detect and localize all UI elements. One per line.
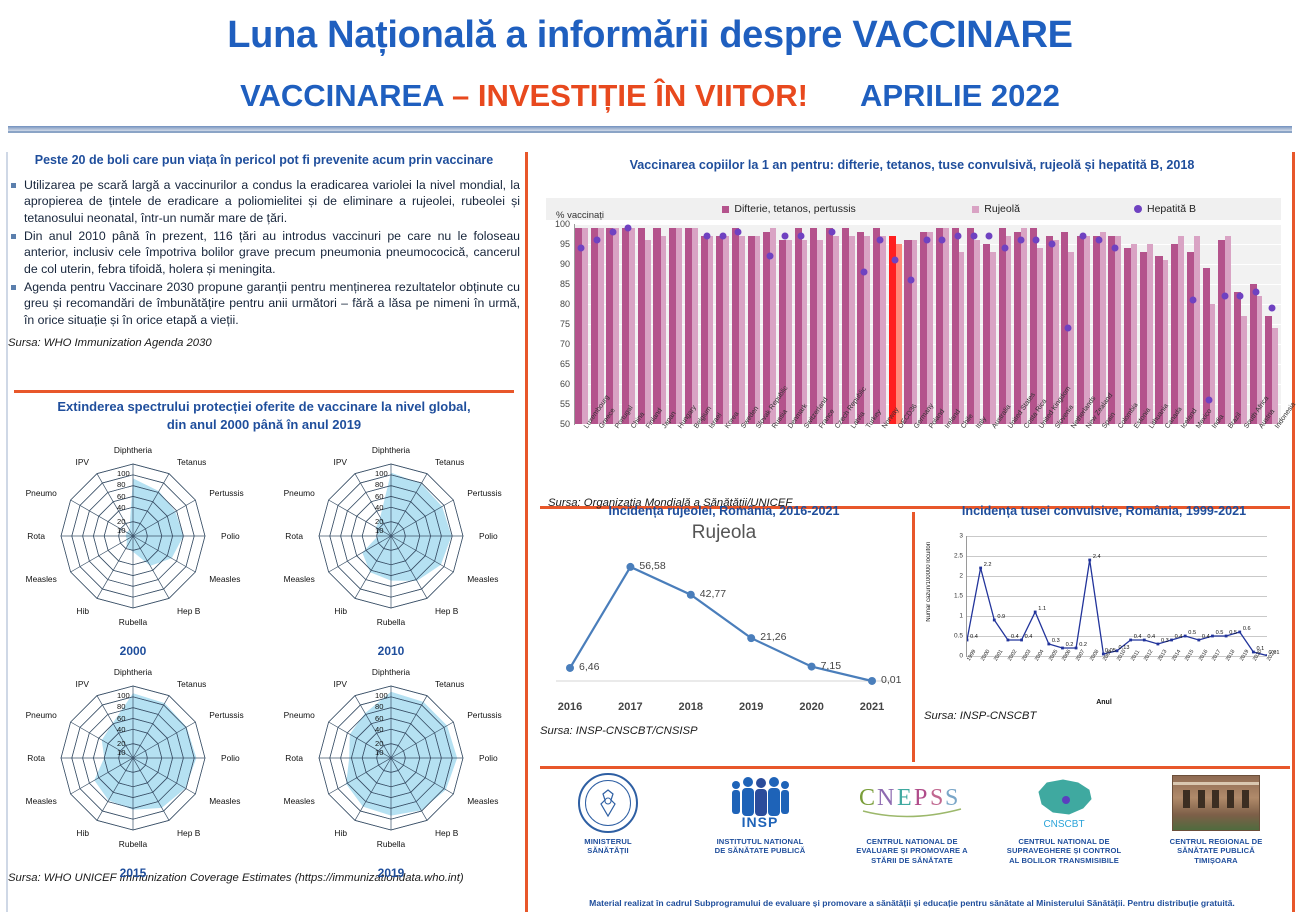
barchart-ytick: 60 bbox=[560, 379, 570, 389]
rujeola-xtick-label: 2020 bbox=[799, 701, 823, 713]
bar-group[interactable] bbox=[842, 224, 855, 424]
radar-tick-label: 60 bbox=[117, 492, 125, 501]
point-hepb bbox=[954, 233, 961, 240]
svg-text:S: S bbox=[930, 785, 943, 811]
radar-tick-label: 80 bbox=[117, 702, 125, 711]
radar-year-label: 2000 bbox=[8, 644, 258, 658]
pertussis-plot: 00.511.522.530.42.20.90.40.41.10.30.20.2… bbox=[924, 528, 1284, 708]
point-hepb bbox=[798, 233, 805, 240]
page-title: Luna Națională a informării despre VACCI… bbox=[0, 14, 1300, 57]
cnscbt-wordmark: CNSCBT bbox=[1043, 819, 1084, 830]
radar-year-label: 2010 bbox=[266, 644, 516, 658]
poster-page: Luna Națională a informării despre VACCI… bbox=[0, 0, 1300, 918]
pertussis-point bbox=[1157, 643, 1160, 646]
bar-group[interactable] bbox=[873, 224, 886, 424]
intro-source: Sursa: WHO Immunization Agenda 2030 bbox=[8, 337, 520, 349]
bar-dtp bbox=[842, 228, 849, 424]
bar-dtp bbox=[1234, 292, 1241, 424]
logo-caption: CENTRUL REGIONAL DESĂNĂTATE PUBLICĂTIMIȘ… bbox=[1170, 837, 1263, 865]
point-hepb bbox=[1237, 293, 1244, 300]
pertussis-value-label: 0.4 bbox=[1147, 634, 1155, 640]
logo-caption: INSTITUTUL NATIONALDE SĂNĂTATE PUBLICĂ bbox=[715, 837, 806, 856]
bar-rujeola bbox=[1163, 260, 1169, 424]
point-hepb bbox=[1049, 241, 1056, 248]
bar-dtp bbox=[653, 228, 660, 424]
radar-axis-label: Hib bbox=[76, 606, 89, 616]
pertussis-point bbox=[1007, 639, 1010, 642]
pertussis-point bbox=[1225, 635, 1228, 638]
radar-axis-label: IPV bbox=[334, 679, 348, 689]
point-hepb bbox=[1111, 245, 1118, 252]
bar-dtp bbox=[763, 232, 770, 424]
legend-label: Difterie, tetanos, pertussis bbox=[734, 203, 855, 215]
intro-bullet: Din anul 2010 până în prezent, 116 țări … bbox=[8, 228, 520, 277]
bar-rujeola bbox=[1115, 236, 1121, 424]
radar-axis-label: Diphtheria bbox=[114, 445, 152, 455]
radar-axis-label: Diphtheria bbox=[372, 445, 410, 455]
svg-text:E: E bbox=[897, 785, 912, 811]
pertussis-point bbox=[1143, 639, 1146, 642]
point-hepb bbox=[1096, 237, 1103, 244]
barchart-ytick: 65 bbox=[560, 359, 570, 369]
bar-rujeola bbox=[1241, 316, 1247, 424]
bar-dtp bbox=[810, 228, 817, 424]
bar-group[interactable] bbox=[701, 224, 714, 424]
point-hepb bbox=[1017, 237, 1024, 244]
radar-chart-2019: DiphtheriaTetanusPertussisPolioMeaslesHe… bbox=[266, 660, 516, 878]
pertussis-value-label: 0.4 bbox=[1134, 634, 1142, 640]
bar-group[interactable] bbox=[1124, 224, 1137, 424]
legend-item-0[interactable]: Difterie, tetanos, pertussis bbox=[722, 203, 855, 215]
bar-rujeola bbox=[629, 228, 635, 424]
radar-axis-label: Pneumo bbox=[284, 710, 315, 720]
bar-dtp bbox=[873, 228, 880, 424]
legend-item-2[interactable]: Hepatită B bbox=[1134, 203, 1196, 215]
radar-tick-label: 40 bbox=[375, 725, 383, 734]
bar-dtp bbox=[795, 228, 802, 424]
bar-rujeola bbox=[1194, 236, 1200, 424]
bar-group[interactable] bbox=[889, 224, 902, 424]
radar-axis-label: Rota bbox=[285, 753, 303, 763]
barchart-ytick: 90 bbox=[560, 259, 570, 269]
logo-cell-3: CNSCBT CENTRUL NATIONAL DESUPRAVEGHERE Ș… bbox=[988, 772, 1140, 882]
pertussis-plotarea: 00.511.522.530.42.20.90.40.41.10.30.20.2… bbox=[966, 536, 1267, 657]
pertussis-value-label: 0.9 bbox=[997, 614, 1005, 620]
radar-axis-label: Pertussis bbox=[467, 710, 501, 720]
rujeola-chart-panel: Incidența rujeolei, România, 2016-2021 R… bbox=[540, 504, 908, 760]
bar-dtp bbox=[638, 228, 645, 424]
radar-tick-label: 40 bbox=[117, 503, 125, 512]
radar-axis-label: Measles bbox=[284, 796, 315, 806]
bar-dtp bbox=[952, 228, 959, 424]
radar-tick-label: 60 bbox=[117, 714, 125, 723]
radar-axis-label: Polio bbox=[479, 753, 498, 763]
bar-group[interactable] bbox=[904, 224, 917, 424]
bar-rujeola bbox=[1210, 304, 1216, 424]
bar-rujeola bbox=[1225, 236, 1231, 424]
point-hepb bbox=[829, 229, 836, 236]
eagle-crest-icon bbox=[595, 788, 621, 818]
bar-dtp bbox=[920, 232, 927, 424]
radar-tick-label: 20 bbox=[375, 517, 383, 526]
radar-axis-label: Measles bbox=[26, 574, 57, 584]
pertussis-source: Sursa: INSP-CNSCBT bbox=[924, 710, 1284, 722]
point-hepb bbox=[594, 237, 601, 244]
radar-axis-label: Pneumo bbox=[26, 488, 57, 498]
pertussis-ytick: 2.5 bbox=[954, 553, 963, 560]
barchart-ytick: 85 bbox=[560, 279, 570, 289]
radar-axis-label: Pneumo bbox=[284, 488, 315, 498]
pertussis-ytick: 3 bbox=[959, 533, 963, 540]
bar-dtp bbox=[1014, 232, 1021, 424]
bar-group[interactable] bbox=[622, 224, 635, 424]
point-hepb bbox=[1033, 237, 1040, 244]
pertussis-point bbox=[979, 567, 982, 570]
legend-marker-icon bbox=[722, 206, 729, 213]
bar-group[interactable] bbox=[1140, 224, 1153, 424]
radar-axis-label: Hep B bbox=[435, 606, 458, 616]
point-hepb bbox=[986, 233, 993, 240]
bar-rujeola bbox=[661, 236, 667, 424]
legend-marker-icon bbox=[972, 206, 979, 213]
bar-group[interactable] bbox=[575, 224, 588, 424]
pertussis-value-label: 0.4 bbox=[1202, 634, 1210, 640]
bar-rujeola bbox=[912, 240, 918, 424]
bar-dtp bbox=[575, 228, 582, 424]
lower-charts-row: Incidența rujeolei, România, 2016-2021 R… bbox=[532, 504, 1292, 760]
bar-group[interactable] bbox=[1250, 224, 1263, 424]
bar-rujeola bbox=[943, 228, 949, 424]
bar-dtp bbox=[904, 240, 911, 424]
point-hepb bbox=[923, 237, 930, 244]
bar-rujeola bbox=[833, 236, 839, 424]
bar-dtp bbox=[748, 236, 755, 424]
bar-dtp bbox=[716, 236, 723, 424]
rujeola-plot: 6,4656,5842,7721,267,150,012016201720182… bbox=[540, 546, 908, 721]
radar-title-line2: din anul 2000 până în anul 2019 bbox=[167, 417, 361, 432]
bar-dtp bbox=[1077, 236, 1084, 424]
svg-text:N: N bbox=[877, 785, 894, 811]
radar-axis-label: Pertussis bbox=[467, 488, 501, 498]
bar-dtp bbox=[1140, 252, 1147, 424]
bar-group[interactable] bbox=[1187, 224, 1200, 424]
bar-rujeola bbox=[708, 236, 714, 424]
logo-cell-1: INSP INSTITUTUL NATIONALDE SĂNĂTATE PUBL… bbox=[684, 772, 836, 882]
intro-bullet-list: Utilizarea pe scară largă a vaccinurilor… bbox=[8, 177, 520, 328]
rujeola-xtick-label: 2017 bbox=[618, 701, 642, 713]
bar-rujeola bbox=[676, 228, 682, 424]
pertussis-value-label: 0.2 bbox=[1079, 642, 1087, 648]
radar-tick-label: 80 bbox=[117, 480, 125, 489]
point-hepb bbox=[1221, 293, 1228, 300]
bar-rujeola bbox=[802, 240, 808, 424]
bar-dtp bbox=[591, 228, 598, 424]
pertussis-point bbox=[967, 639, 968, 642]
barchart-ytick: 95 bbox=[560, 239, 570, 249]
building-photo-icon bbox=[1172, 775, 1260, 831]
radar-axis-label: Tetanus bbox=[177, 679, 206, 689]
bar-dtp bbox=[1171, 244, 1178, 424]
bar-rujeola bbox=[613, 228, 619, 424]
svg-text:S: S bbox=[945, 785, 958, 811]
radar-axis-label: Hep B bbox=[435, 828, 458, 838]
insp-wordmark: INSP bbox=[742, 814, 779, 830]
pertussis-ytick: 2 bbox=[959, 573, 963, 580]
logo-cell-2: C N E P S S CENTRUL NATIONAL DEEVALUARE … bbox=[836, 772, 988, 882]
bar-group[interactable] bbox=[669, 224, 682, 424]
point-hepb bbox=[735, 229, 742, 236]
pertussis-point bbox=[1020, 639, 1023, 642]
legend-item-1[interactable]: Rujeolă bbox=[972, 203, 1020, 215]
pertussis-point bbox=[1075, 647, 1078, 650]
pertussis-chart-panel: Incidența tusei convulsive, România, 199… bbox=[924, 504, 1284, 760]
pertussis-point bbox=[1047, 643, 1050, 646]
radar-chart-2010: DiphtheriaTetanusPertussisPolioMeaslesHe… bbox=[266, 438, 516, 656]
radar-axis-label: Diphtheria bbox=[372, 667, 410, 677]
radar-axis-label: Hib bbox=[76, 828, 89, 838]
bar-group[interactable] bbox=[653, 224, 666, 424]
pertussis-point bbox=[1184, 635, 1187, 638]
bar-dtp bbox=[685, 228, 692, 424]
bar-group[interactable] bbox=[1046, 224, 1059, 424]
bar-rujeola bbox=[723, 236, 729, 424]
bar-group[interactable] bbox=[810, 224, 823, 424]
pertussis-value-label: 0.4 bbox=[970, 634, 978, 640]
bar-group[interactable] bbox=[763, 224, 776, 424]
bar-group[interactable] bbox=[1234, 224, 1247, 424]
bar-group[interactable] bbox=[1093, 224, 1106, 424]
radar-tick-label: 10 bbox=[375, 748, 383, 757]
radar-year-label: 2019 bbox=[266, 866, 516, 880]
barchart-ytick: 80 bbox=[560, 299, 570, 309]
vertical-divider-main bbox=[525, 152, 528, 912]
point-hepb bbox=[1080, 233, 1087, 240]
barchart-ytick: 50 bbox=[560, 419, 570, 429]
point-hepb bbox=[1002, 245, 1009, 252]
radar-axis-label: Measles bbox=[467, 796, 498, 806]
pertussis-value-label: 0.5 bbox=[1229, 630, 1237, 636]
people-group-icon bbox=[728, 776, 792, 818]
rujeola-plot-title: Rujeola bbox=[540, 522, 908, 544]
subtitle-part-b: INVESTIȚIE ÎN VIITOR! bbox=[478, 78, 808, 113]
rujeola-point bbox=[808, 663, 816, 671]
point-hepb bbox=[1064, 325, 1071, 332]
bar-dtp bbox=[889, 236, 896, 424]
bar-dtp bbox=[1124, 248, 1131, 424]
bar-group[interactable] bbox=[1077, 224, 1090, 424]
radar-axis-label: Rota bbox=[285, 531, 303, 541]
logo-caption: CENTRUL NATIONAL DESUPRAVEGHERE ȘI CONTR… bbox=[1007, 837, 1121, 865]
bar-group[interactable] bbox=[1155, 224, 1168, 424]
bar-rujeola bbox=[864, 236, 870, 424]
radar-year-label: 2015 bbox=[8, 866, 258, 880]
romania-outline-icon bbox=[1033, 776, 1095, 818]
rujeola-value-label: 21,26 bbox=[760, 631, 786, 643]
rujeola-xtick-label: 2021 bbox=[860, 701, 884, 713]
bar-dtp bbox=[967, 228, 974, 424]
bar-rujeola bbox=[927, 232, 933, 424]
pertussis-value-label: 0.4 bbox=[1025, 634, 1033, 640]
pertussis-value-label: 0.6 bbox=[1243, 626, 1251, 632]
rujeola-point bbox=[747, 634, 755, 642]
point-hepb bbox=[578, 245, 585, 252]
pertussis-point bbox=[1129, 639, 1132, 642]
pertussis-value-label: 2.2 bbox=[984, 562, 992, 568]
bar-group[interactable] bbox=[716, 224, 729, 424]
bar-group[interactable] bbox=[795, 224, 808, 424]
bar-group[interactable] bbox=[748, 224, 761, 424]
bar-rujeola bbox=[582, 228, 588, 424]
right-edge-divider bbox=[1292, 152, 1295, 912]
bar-group[interactable] bbox=[936, 224, 949, 424]
rujeola-xtick-label: 2018 bbox=[679, 701, 703, 713]
radar-axis-label: Measles bbox=[209, 796, 240, 806]
radar-tick-label: 20 bbox=[117, 517, 125, 526]
radar-title-line1: Extinderea spectrului protecției oferite… bbox=[57, 399, 470, 414]
pertussis-point bbox=[1238, 631, 1241, 634]
point-hepb bbox=[1190, 297, 1197, 304]
bar-dtp bbox=[983, 244, 990, 424]
pertussis-point bbox=[1088, 559, 1091, 562]
bar-group[interactable] bbox=[638, 224, 651, 424]
point-hepb bbox=[1268, 305, 1275, 312]
radar-axis-label: IPV bbox=[76, 457, 90, 467]
bar-dtp bbox=[732, 228, 739, 424]
logo-cell-4: CENTRUL REGIONAL DESĂNĂTATE PUBLICĂTIMIȘ… bbox=[1140, 772, 1292, 882]
radar-tick-label: 20 bbox=[375, 739, 383, 748]
radar-axis-label: Measles bbox=[26, 796, 57, 806]
bar-rujeola bbox=[645, 240, 651, 424]
bar-rujeola bbox=[598, 228, 604, 424]
rujeola-value-label: 7,15 bbox=[821, 660, 841, 672]
bar-group[interactable] bbox=[967, 224, 980, 424]
bar-rujeola bbox=[786, 240, 792, 424]
pertussis-value-label: 0.5 bbox=[1216, 630, 1224, 636]
bar-rujeola bbox=[1006, 236, 1012, 424]
pertussis-point bbox=[1061, 647, 1064, 650]
subtitle-row: VACCINAREA – INVESTIȚIE ÎN VIITOR!APRILI… bbox=[0, 78, 1300, 114]
point-hepb bbox=[907, 277, 914, 284]
bar-group[interactable] bbox=[999, 224, 1012, 424]
bar-group[interactable] bbox=[591, 224, 604, 424]
radar-axis-label: Polio bbox=[479, 531, 498, 541]
bar-dtp bbox=[1187, 252, 1194, 424]
intro-heading: Peste 20 de boli care pun viața în peric… bbox=[8, 152, 520, 169]
point-hepb bbox=[766, 253, 773, 260]
point-hepb bbox=[609, 229, 616, 236]
rujeola-value-label: 56,58 bbox=[639, 560, 665, 572]
logo-row: MINISTERULSĂNĂTĂȚII INSP INSTITUTUL NATI… bbox=[532, 772, 1292, 882]
radar-axis-label: Rubella bbox=[119, 617, 147, 627]
bar-group[interactable] bbox=[920, 224, 933, 424]
radar-tick-label: 10 bbox=[375, 526, 383, 535]
radar-axis-label: Hep B bbox=[177, 828, 200, 838]
point-hepb bbox=[1205, 397, 1212, 404]
bar-rujeola bbox=[692, 228, 698, 424]
pertussis-value-label: 0.4 bbox=[1175, 634, 1183, 640]
radar-tick-label: 40 bbox=[117, 725, 125, 734]
pertussis-ylabel: Numar cazuri/100000 locuitori bbox=[926, 542, 932, 622]
bar-group[interactable] bbox=[952, 224, 965, 424]
bar-dtp bbox=[826, 228, 833, 424]
radar-axis-label: IPV bbox=[334, 457, 348, 467]
bar-rujeola bbox=[755, 236, 761, 424]
logo-cell-0: MINISTERULSĂNĂTĂȚII bbox=[532, 772, 684, 882]
barchart-yaxis: 50556065707580859095100 bbox=[546, 224, 574, 424]
bar-rujeola bbox=[1178, 236, 1184, 424]
barchart-ytick: 100 bbox=[555, 219, 570, 229]
bar-rujeola bbox=[959, 252, 965, 424]
point-hepb bbox=[625, 225, 632, 232]
bar-group[interactable] bbox=[826, 224, 839, 424]
pertussis-line bbox=[967, 560, 1267, 656]
radar-chart-grid: DiphtheriaTetanusPertussisPolioMeaslesHe… bbox=[8, 438, 520, 878]
radar-tick-label: 60 bbox=[375, 492, 383, 501]
cnepss-icon: C N E P S S bbox=[857, 779, 967, 828]
footer-note: Material realizat în cadrul Subprogramul… bbox=[532, 898, 1292, 908]
radar-tick-label: 100 bbox=[117, 691, 130, 700]
bar-group[interactable] bbox=[1203, 224, 1216, 424]
bar-group[interactable] bbox=[1171, 224, 1184, 424]
radar-axis-label: Measles bbox=[467, 574, 498, 584]
point-hepb bbox=[970, 233, 977, 240]
bar-group[interactable] bbox=[606, 224, 619, 424]
pertussis-title: Incidența tusei convulsive, România, 199… bbox=[924, 504, 1284, 518]
bar-rujeola bbox=[1068, 252, 1074, 424]
barchart-ytick: 75 bbox=[560, 319, 570, 329]
radar-tick-label: 100 bbox=[375, 691, 388, 700]
barchart-plot: % vaccinați 50556065707580859095100 Luxe… bbox=[546, 224, 1281, 424]
bar-group[interactable] bbox=[1014, 224, 1027, 424]
radar-axis-label: Pertussis bbox=[209, 488, 243, 498]
bar-dtp bbox=[669, 228, 676, 424]
insp-people-icon: INSP bbox=[728, 776, 792, 830]
bar-group[interactable] bbox=[732, 224, 745, 424]
bar-dtp bbox=[999, 228, 1006, 424]
pertussis-value-label: 0.2 bbox=[1066, 642, 1074, 648]
radar-tick-label: 10 bbox=[117, 526, 125, 535]
radar-axis-label: Rota bbox=[27, 531, 45, 541]
rujeola-value-label: 6,46 bbox=[579, 661, 599, 673]
bar-rujeola bbox=[1100, 232, 1106, 424]
radar-tick-label: 40 bbox=[375, 503, 383, 512]
bar-rujeola bbox=[990, 252, 996, 424]
subtitle-part-a: VACCINAREA bbox=[240, 78, 452, 113]
radar-axis-label: Hep B bbox=[177, 606, 200, 616]
bar-rujeola bbox=[739, 236, 745, 424]
radar-axis-label: Polio bbox=[221, 753, 240, 763]
bar-rujeola bbox=[974, 240, 980, 424]
pertussis-ytick: 1.5 bbox=[954, 593, 963, 600]
rujeola-source: Sursa: INSP-CNSCBT/CNSISP bbox=[540, 725, 908, 737]
bar-group[interactable] bbox=[1265, 224, 1278, 424]
subtitle-dash: – bbox=[452, 78, 478, 113]
bar-group[interactable] bbox=[983, 224, 996, 424]
rujeola-point bbox=[566, 664, 574, 672]
pertussis-ytick: 1 bbox=[959, 613, 963, 620]
point-hepb bbox=[892, 257, 899, 264]
radar-axis-label: IPV bbox=[76, 679, 90, 689]
barchart-xaxis-labels: LuxembourgGreecePortugalChinaFinlandJapa… bbox=[574, 426, 1281, 486]
bar-group[interactable] bbox=[1218, 224, 1231, 424]
bar-rujeola bbox=[1131, 244, 1137, 424]
radar-axis-label: Rubella bbox=[377, 839, 405, 849]
rujeola-svg bbox=[540, 546, 900, 721]
bar-group[interactable] bbox=[685, 224, 698, 424]
radar-tick-label: 100 bbox=[375, 469, 388, 478]
point-hepb bbox=[939, 237, 946, 244]
svg-text:C: C bbox=[859, 785, 875, 811]
